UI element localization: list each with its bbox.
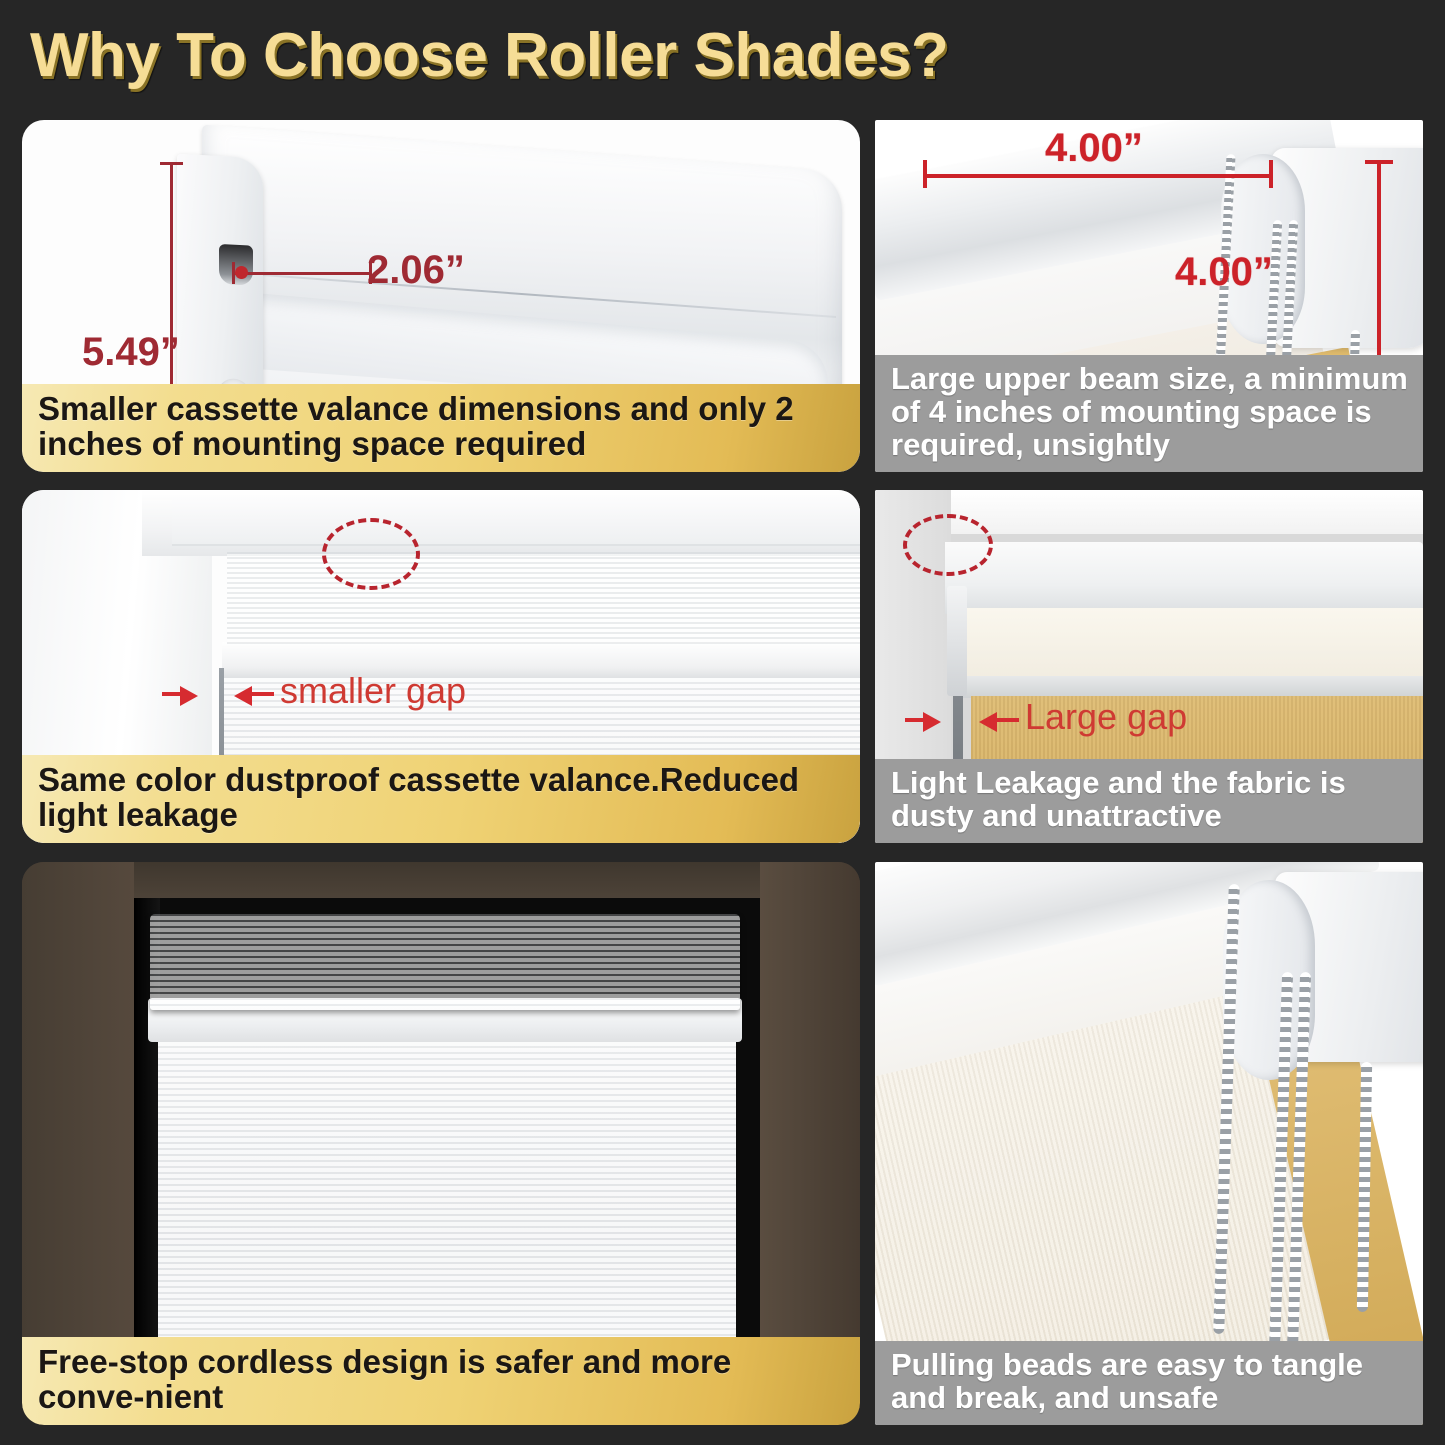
panel-dustproof-cassette: smaller gap Same color dustproof cassett… [22, 490, 860, 843]
beam-height-dimension-line [1377, 160, 1381, 360]
beam-width-tick-left [923, 160, 927, 188]
beam-width-dimension-line [923, 174, 1273, 178]
gap-arrow-left-icon [234, 686, 252, 706]
gap-arrow-right-line [162, 692, 182, 696]
panel-cassette-valance: 5.49” 2.06” Smaller cassette valance dim… [22, 120, 860, 472]
cassette-valance-shape [227, 552, 860, 644]
beam-height-tick-top [1365, 160, 1393, 164]
gap-arrow-left-line [252, 692, 274, 696]
end-bracket-shape [947, 586, 967, 696]
panel-cordless-design: Free-stop cordless design is safer and m… [22, 862, 860, 1425]
panel-light-leakage: Large gap Light Leakage and the fabric i… [875, 490, 1423, 843]
gap-label: smaller gap [280, 670, 466, 712]
gap-arrow-right-icon [180, 686, 198, 706]
highlight-circle-icon [903, 514, 993, 576]
depth-dimension-label: 2.06” [367, 248, 465, 293]
gap-arrow-right-icon [923, 712, 941, 732]
beam-width-tick-right [1269, 160, 1273, 188]
page-title: Why To Choose Roller Shades? [30, 18, 1030, 94]
panel-large-upper-beam: 4.00” 4.00” Large upper beam size, a min… [875, 120, 1423, 472]
panel-caption: Pulling beads are easy to tangle and bre… [875, 1341, 1423, 1425]
panel-caption: Smaller cassette valance dimensions and … [22, 384, 860, 472]
gap-label: Large gap [1025, 696, 1187, 738]
panel-caption: Free-stop cordless design is safer and m… [22, 1337, 860, 1425]
shade-fabric-shape [158, 1040, 736, 1370]
window-frame-bevel-shape [172, 498, 860, 546]
beam-height-label: 4.00” [1175, 250, 1273, 295]
wall-top-shape [22, 862, 860, 898]
shade-bar-shape [961, 676, 1423, 698]
cassette-valance-shape [150, 914, 740, 1010]
gap-arrow-right-line [905, 718, 925, 722]
bracket-slot-icon [219, 244, 253, 286]
gap-arrow-left-line [997, 718, 1019, 722]
depth-dimension-dot-icon [235, 266, 248, 279]
height-dimension-tick-top [160, 162, 183, 165]
panel-pulling-beads: Pulling beads are easy to tangle and bre… [875, 862, 1423, 1425]
panel-caption: Large upper beam size, a minimum of 4 in… [875, 355, 1423, 472]
highlight-circle-icon [322, 518, 420, 590]
roller-tube-shape [945, 542, 1423, 614]
beam-width-label: 4.00” [1045, 126, 1143, 171]
panel-caption: Light Leakage and the fabric is dusty an… [875, 759, 1423, 843]
panel-caption: Same color dustproof cassette valance.Re… [22, 755, 860, 843]
height-dimension-label: 5.49” [82, 330, 180, 375]
shade-fabric-shape [961, 608, 1423, 682]
gap-arrow-left-icon [979, 712, 997, 732]
depth-dimension-line [232, 272, 372, 275]
